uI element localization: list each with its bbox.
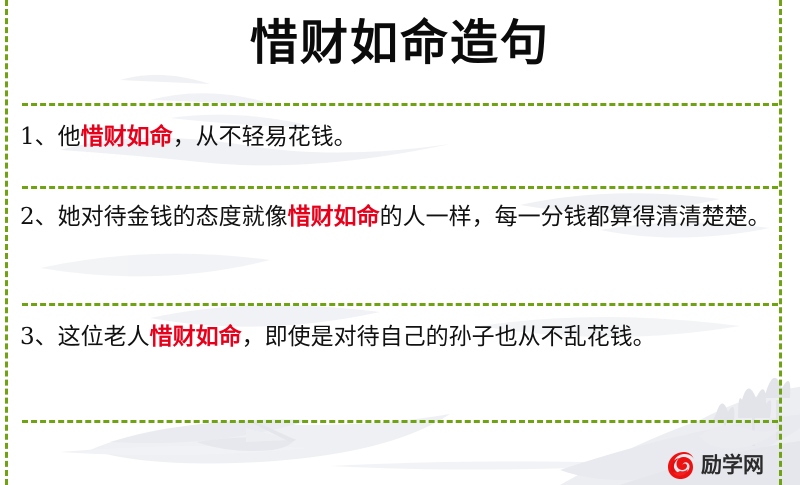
separator-bottom [22, 420, 778, 423]
sentence-text-run: ，即使是对待自己的孙子也从不乱花钱。 [242, 324, 656, 350]
page-root: 惜财如命造句 1、他惜财如命，从不轻易花钱。 2、她对待金钱的态度就像惜财如命的… [0, 0, 800, 485]
example-sentence-1: 1、他惜财如命，从不轻易花钱。 [20, 118, 772, 156]
example-sentence-2: 2、她对待金钱的态度就像惜财如命的人一样，每一分钱都算得清清楚楚。 [20, 198, 772, 236]
example-sentence-3: 3、这位老人惜财如命，即使是对待自己的孙子也从不乱花钱。 [20, 318, 772, 356]
separator-2 [22, 303, 778, 306]
separator-top [22, 103, 778, 106]
site-logo-text: 励学网 [701, 449, 764, 481]
highlighted-idiom: 惜财如命 [288, 203, 380, 230]
separator-1 [22, 186, 778, 189]
highlighted-idiom: 惜财如命 [150, 323, 242, 350]
highlighted-idiom: 惜财如命 [81, 123, 173, 150]
page-title: 惜财如命造句 [0, 8, 800, 78]
site-logo[interactable]: 励学网 [665, 448, 777, 482]
swirl-phoenix-icon [665, 449, 697, 481]
sentence-text-run: ，从不轻易花钱。 [173, 124, 357, 150]
sentence-text-run: 3、这位老人 [20, 324, 150, 350]
sentence-text-run: 1、他 [20, 124, 81, 150]
sentence-text-run: 的人一样，每一分钱都算得清清楚楚。 [380, 204, 771, 230]
sentence-text-run: 2、她对待金钱的态度就像 [20, 204, 288, 230]
